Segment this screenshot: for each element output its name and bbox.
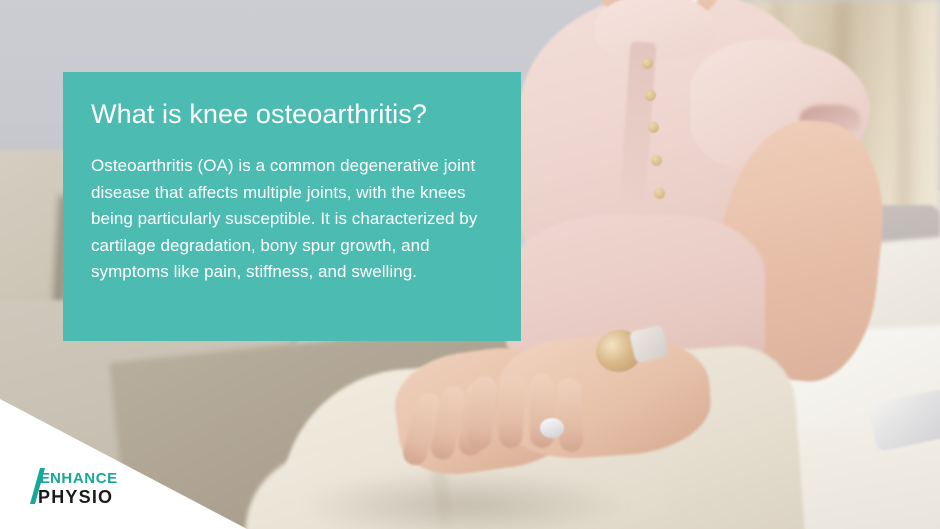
shirt-button bbox=[645, 90, 656, 101]
knee-shadow bbox=[300, 470, 630, 529]
logo-physio-text: PHYSIO bbox=[38, 487, 113, 507]
logo-enhance-text: NHANCE bbox=[50, 470, 118, 487]
shirt-button bbox=[651, 155, 662, 166]
panel-title: What is knee osteoarthritis? bbox=[91, 98, 511, 130]
panel-body-text: Osteoarthritis (OA) is a common degenera… bbox=[91, 153, 503, 286]
shirt-button bbox=[642, 58, 653, 69]
finger-ring bbox=[540, 418, 564, 438]
finger bbox=[498, 373, 526, 448]
shirt-button bbox=[654, 188, 665, 199]
finger bbox=[556, 377, 584, 452]
slide-canvas: What is knee osteoarthritis? Osteoarthri… bbox=[0, 0, 940, 529]
brand-logo: E NHANCE PHYSIO bbox=[18, 466, 148, 510]
shirt-button bbox=[648, 122, 659, 133]
info-panel: What is knee osteoarthritis? Osteoarthri… bbox=[63, 72, 521, 341]
